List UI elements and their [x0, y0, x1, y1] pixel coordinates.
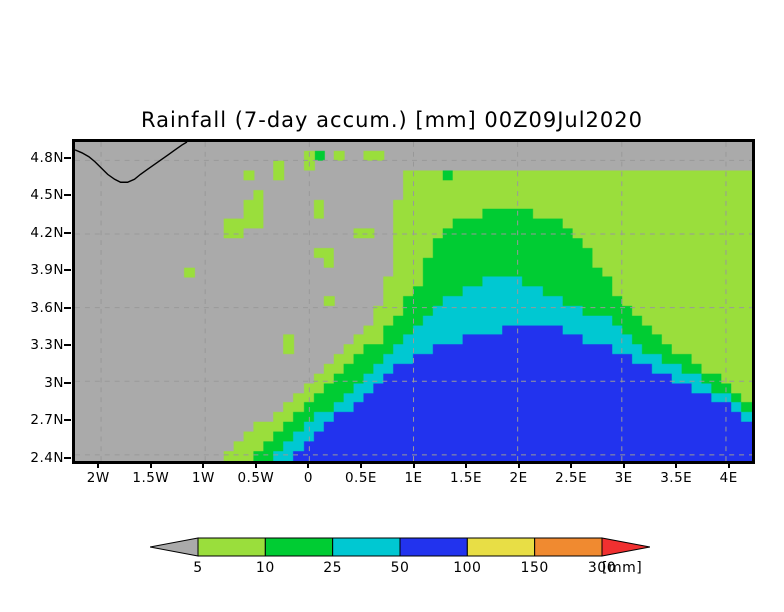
colorbar-swatches	[150, 534, 650, 560]
colorbar: [mm] 5102550100150300	[150, 534, 650, 580]
x-axis-tick-label: 3E	[615, 470, 633, 486]
y-axis-tick-mark	[64, 307, 71, 309]
y-axis-tick-mark	[64, 457, 71, 459]
x-axis-tick-mark	[360, 461, 362, 468]
x-axis-tick-mark	[413, 461, 415, 468]
colorbar-tick-label: 25	[323, 560, 342, 576]
y-axis-tick-label: 2.7N	[30, 412, 64, 428]
x-axis-tick-label: 0	[304, 470, 313, 486]
y-axis-tick-mark	[64, 232, 71, 234]
colorbar-bin	[198, 538, 265, 556]
y-axis-tick-label: 4.8N	[30, 150, 64, 166]
x-axis-tick-mark	[728, 461, 730, 468]
colorbar-tick-label: 100	[453, 560, 481, 576]
colorbar-bin	[400, 538, 467, 556]
y-axis-tick-mark	[64, 344, 71, 346]
colorbar-bin	[333, 538, 400, 556]
x-axis-tick-label: 2W	[87, 470, 110, 486]
x-axis-tick-label: 0.5W	[237, 470, 274, 486]
x-axis-tick-label: 4E	[720, 470, 738, 486]
rainfall-raster	[75, 142, 752, 461]
colorbar-tick-label: 150	[521, 560, 549, 576]
y-axis-tick-label: 3.6N	[30, 300, 64, 316]
x-axis-tick-label: 1W	[192, 470, 215, 486]
colorbar-tick-label: 50	[391, 560, 410, 576]
y-axis-tick-mark	[64, 269, 71, 271]
x-axis-tick-label: 2.5E	[555, 470, 587, 486]
y-axis-tick-label: 4.2N	[30, 225, 64, 241]
x-axis-tick-mark	[97, 461, 99, 468]
map-plot-area	[72, 139, 755, 464]
y-axis-tick-label: 3.3N	[30, 337, 64, 353]
colorbar-tick-label: 10	[256, 560, 275, 576]
y-axis-tick-mark	[64, 382, 71, 384]
x-axis-tick-label: 3.5E	[660, 470, 692, 486]
x-axis-tick-mark	[465, 461, 467, 468]
y-axis-tick-label: 3.9N	[30, 262, 64, 278]
y-axis-tick-label: 3N	[44, 375, 64, 391]
x-axis-tick-mark	[675, 461, 677, 468]
x-axis-tick-label: 1.5E	[450, 470, 482, 486]
colorbar-bin	[467, 538, 534, 556]
x-axis-tick-label: 2E	[510, 470, 528, 486]
colorbar-bin	[535, 538, 602, 556]
colorbar-tick-label: 300	[588, 560, 616, 576]
x-axis-tick-mark	[518, 461, 520, 468]
x-axis-tick-mark	[150, 461, 152, 468]
x-axis-tick-label: 1E	[404, 470, 422, 486]
colorbar-bin	[265, 538, 332, 556]
y-axis-tick-mark	[64, 157, 71, 159]
colorbar-tick-label: 5	[193, 560, 202, 576]
y-axis: 4.8N4.5N4.2N3.9N3.6N3.3N3N2.7N2.4N	[0, 139, 64, 464]
x-axis-tick-mark	[570, 461, 572, 468]
colorbar-under-arrow	[150, 538, 198, 556]
y-axis-tick-label: 4.5N	[30, 187, 64, 203]
x-axis-tick-mark	[623, 461, 625, 468]
y-axis-tick-mark	[64, 194, 71, 196]
x-axis-tick-label: 1.5W	[132, 470, 169, 486]
x-axis-tick-mark	[202, 461, 204, 468]
x-axis-tick-mark	[307, 461, 309, 468]
colorbar-over-arrow	[602, 538, 650, 556]
y-axis-tick-mark	[64, 419, 71, 421]
x-axis-tick-label: 0.5E	[345, 470, 377, 486]
y-axis-tick-label: 2.4N	[30, 450, 64, 466]
chart-title: Rainfall (7-day accum.) [mm] 00Z09Jul202…	[0, 108, 784, 132]
x-axis: 2W1.5W1W0.5W00.5E1E1.5E2E2.5E3E3.5E4E	[72, 470, 755, 494]
x-axis-tick-mark	[255, 461, 257, 468]
